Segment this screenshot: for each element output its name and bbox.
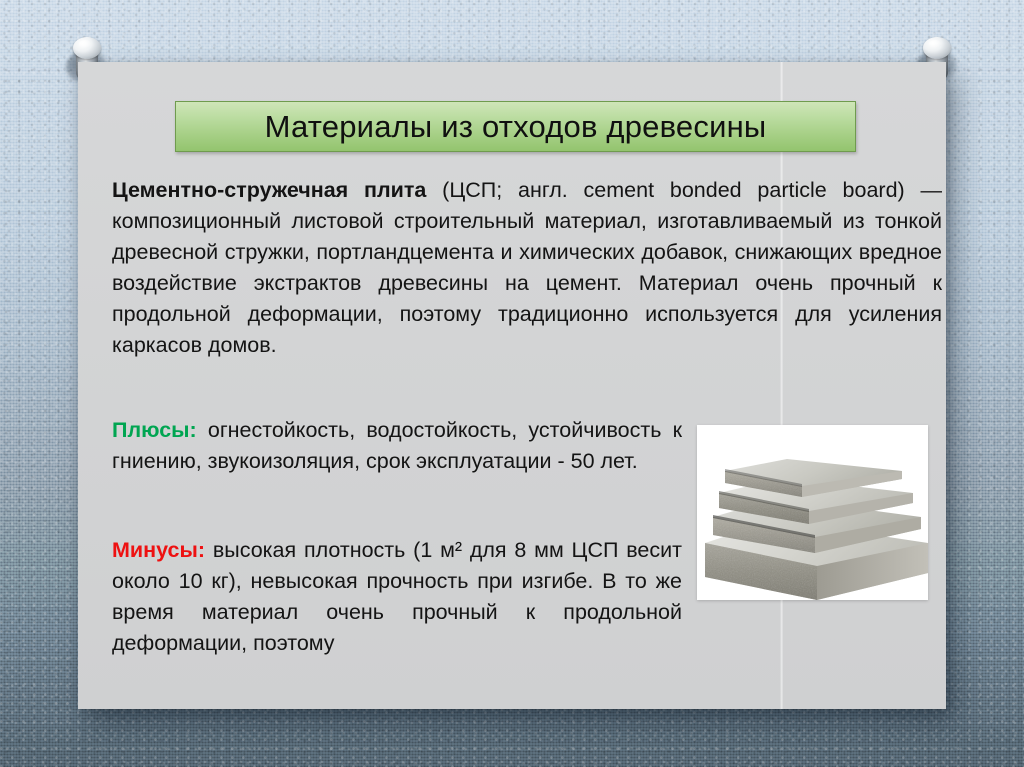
- pushpin-head: [73, 37, 101, 59]
- board-stack-illustration: [697, 425, 928, 600]
- pros-block: Плюсы: огнестойкость, водостойкость, уст…: [112, 415, 682, 477]
- slide-stage: Материалы из отходов древесины Цементно-…: [0, 0, 1024, 767]
- pros-label: Плюсы:: [112, 418, 197, 442]
- cons-label: Минусы:: [112, 538, 205, 562]
- paper-crease: [780, 62, 783, 709]
- slide-paper-panel: Материалы из отходов древесины Цементно-…: [78, 62, 946, 709]
- cement-bonded-particle-board-stack-photo: [697, 425, 928, 600]
- intro-paragraph: Цементно-стружечная плита (ЦСП; англ. ce…: [112, 175, 942, 361]
- cons-block: Минусы: высокая плотность (1 м² для 8 мм…: [112, 535, 682, 659]
- slide-title-banner: Материалы из отходов древесины: [175, 101, 856, 152]
- pushpin-head: [923, 37, 951, 59]
- pushpin-highlight: [79, 40, 91, 48]
- pushpin-highlight: [929, 40, 941, 48]
- pros-text: огнестойкость, водостойкость, устойчивос…: [112, 418, 682, 473]
- intro-lead-term: Цементно-стружечная плита: [112, 178, 426, 202]
- page-title: Материалы из отходов древесины: [265, 109, 767, 145]
- intro-body-text: (ЦСП; англ. cement bonded particle board…: [112, 178, 942, 357]
